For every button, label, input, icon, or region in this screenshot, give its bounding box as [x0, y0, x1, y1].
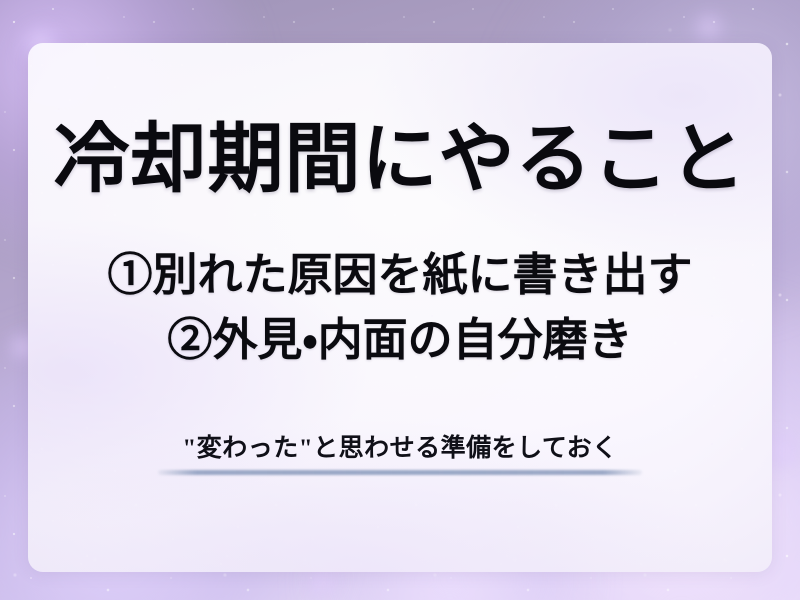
- page-title: 冷却期間にやること: [0, 122, 800, 198]
- footnote-text: "変わった"と思わせる準備をしておく: [0, 436, 800, 461]
- slide-content: 冷却期間にやること ①別れた原因を紙に書き出す ②外見・内面の自分磨き "変わっ…: [0, 0, 800, 600]
- slide-canvas: 冷却期間にやること ①別れた原因を紙に書き出す ②外見・内面の自分磨き "変わっ…: [0, 0, 800, 600]
- list-item: ①別れた原因を紙に書き出す: [0, 253, 800, 298]
- list-item: ②外見・内面の自分磨き: [0, 318, 800, 363]
- footnote-underline: [158, 470, 642, 475]
